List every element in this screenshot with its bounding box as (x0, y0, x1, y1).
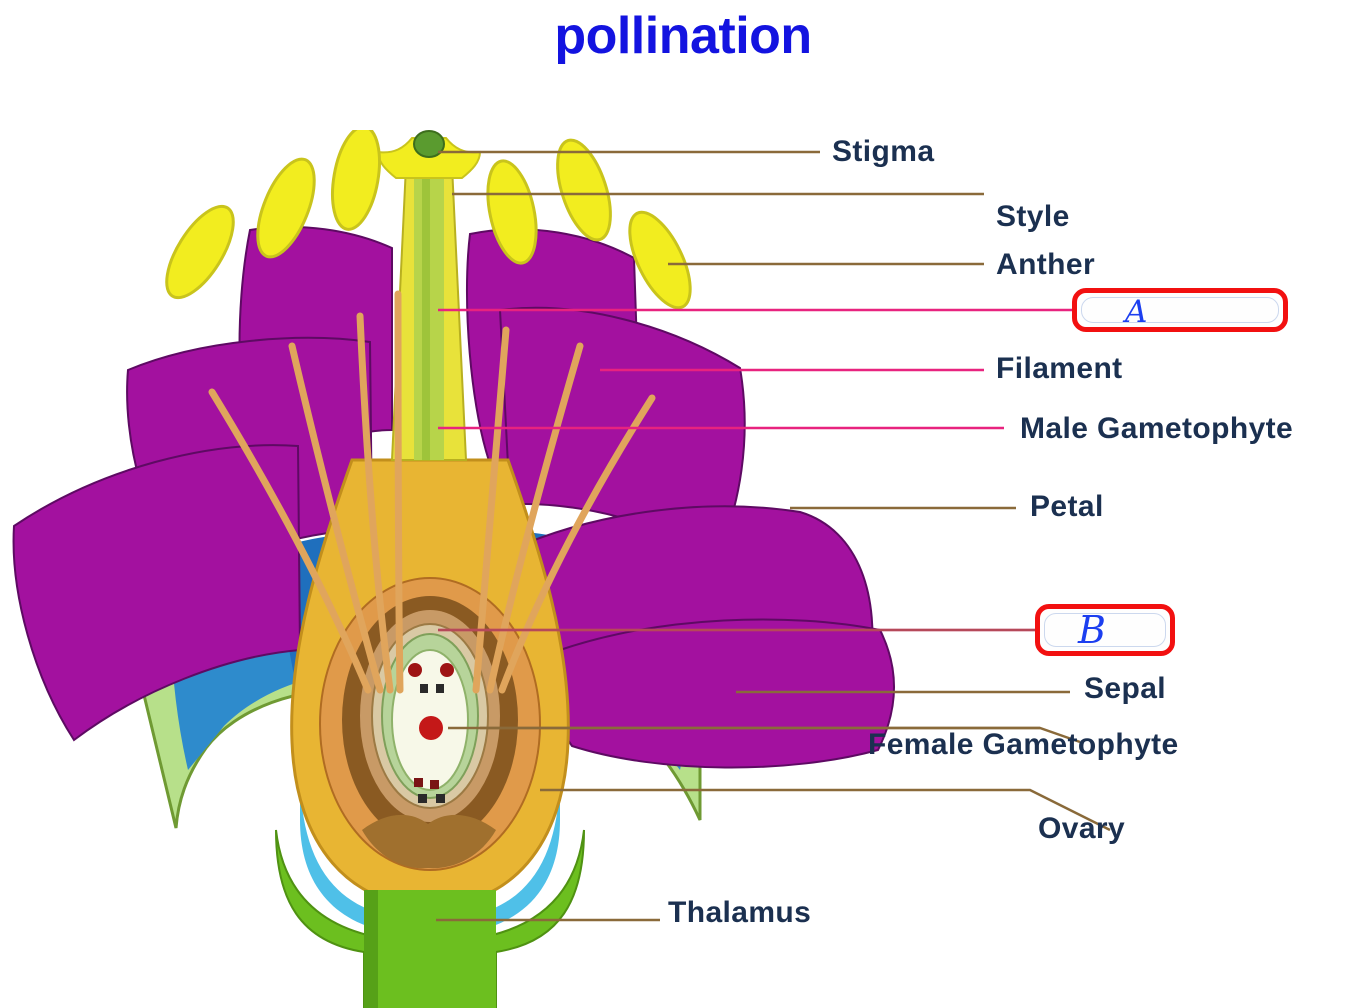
style-column (378, 138, 480, 460)
answer-box-b-handwriting: B (1078, 608, 1106, 652)
label-stigma: Stigma (832, 135, 934, 169)
label-sepal: Sepal (1084, 672, 1166, 706)
slide-canvas: pollination (0, 0, 1366, 1008)
label-style: Style (996, 200, 1070, 234)
label-filament: Filament (996, 352, 1123, 386)
label-thalamus: Thalamus (668, 896, 811, 930)
label-male-gametophyte: Male Gametophyte (1020, 412, 1293, 446)
label-anther: Anther (996, 248, 1095, 282)
answer-box-a-inner-outline (1081, 297, 1279, 323)
flower-diagram (0, 130, 1366, 1008)
answer-box-a-handwriting: A (1125, 294, 1147, 330)
answer-box-a[interactable]: A (1072, 288, 1288, 332)
answer-box-b[interactable]: B (1035, 604, 1175, 656)
label-petal: Petal (1030, 490, 1104, 524)
page-title: pollination (0, 8, 1366, 65)
petal-far-right (554, 619, 894, 767)
label-ovary: Ovary (1038, 812, 1125, 846)
label-female-gametophyte: Female Gametophyte (868, 728, 1179, 762)
